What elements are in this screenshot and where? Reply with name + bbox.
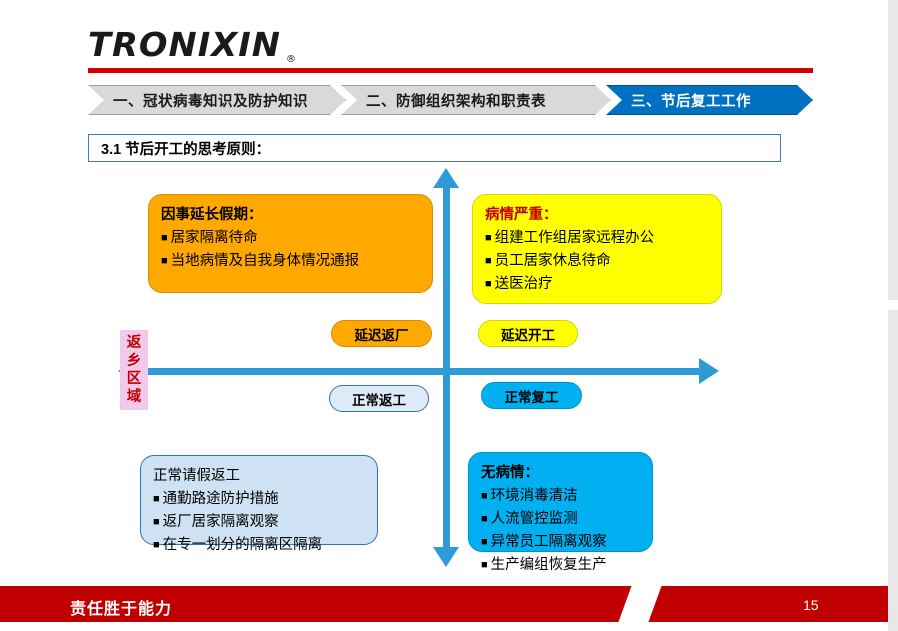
quadrant-bottom-left-bullet-2: 返厂居家隔离观察 [153, 511, 365, 534]
quadrant-top-left-bullet-2: 当地病情及自我身体情况通报 [161, 250, 420, 273]
pill-delayed-return-to-factory: 延迟返厂 [331, 320, 432, 347]
quadrant-bottom-left-bullet-3: 在专一划分的隔离区隔离 [153, 534, 365, 557]
registered-trademark-icon: ® [286, 54, 296, 65]
axis-arrow-up-icon [433, 168, 459, 188]
quadrant-bottom-left-header: 正常请假返工 [153, 465, 365, 487]
pill-normal-resume-work: 正常复工 [481, 382, 582, 409]
footer-slogan: 责任胜于能力 [70, 595, 172, 619]
axis-arrow-right-icon [699, 358, 719, 384]
quadrant-bottom-right-bullet-4: 生产编组恢复生产 [481, 554, 640, 577]
quadrant-top-left-header: 因事延长假期： [161, 204, 420, 226]
axis-arrow-down-icon [433, 547, 459, 567]
quadrant-top-right-header: 病情严重： [485, 204, 709, 226]
quadrant-top-right-bullet-3: 送医治疗 [485, 273, 709, 296]
quadrant-box-top-left: 因事延长假期： 居家隔离待命 当地病情及自我身体情况通报 [148, 194, 433, 293]
header-rule [88, 68, 813, 73]
quadrant-box-bottom-left: 正常请假返工 通勤路途防护措施 返厂居家隔离观察 在专一划分的隔离区隔离 [140, 455, 378, 545]
brand-logo-text: TRONIXIN [88, 28, 281, 61]
nav-chevron-3-active[interactable]: 三、节后复工工作 [606, 85, 813, 115]
pill-delayed-start-work: 延迟开工 [478, 320, 578, 347]
slide-canvas: TRONIXIN ® 一、冠状病毒知识及防护知识 二、防御组织架构和职责表 三、… [0, 0, 898, 631]
page-number: 15 [803, 597, 819, 613]
quadrant-bottom-left-bullet-1: 通勤路途防护措施 [153, 488, 365, 511]
quadrant-bottom-right-bullet-2: 人流管控监测 [481, 508, 640, 531]
right-edge-bar-bottom [888, 310, 898, 631]
nav-chevron-2[interactable]: 二、防御组织架构和职责表 [341, 85, 611, 115]
quadrant-bottom-right-bullet-3: 异常员工隔离观察 [481, 531, 640, 554]
quadrant-top-right-bullet-1: 组建工作组居家远程办公 [485, 227, 709, 250]
quadrant-top-right-bullet-2: 员工居家休息待命 [485, 250, 709, 273]
quadrant-top-left-bullet-1: 居家隔离待命 [161, 227, 420, 250]
quadrant-box-top-right: 病情严重： 组建工作组居家远程办公 员工居家休息待命 送医治疗 [472, 194, 722, 304]
axis-label-return-region: 返乡区域 [120, 330, 148, 410]
brand-logo: TRONIXIN ® [88, 28, 277, 61]
pill-normal-return-to-work: 正常返工 [329, 385, 429, 412]
right-edge-bar-top [888, 0, 898, 300]
section-nav: 一、冠状病毒知识及防护知识 二、防御组织架构和职责表 三、节后复工工作 [88, 85, 813, 115]
quadrant-box-bottom-right: 无病情： 环境消毒清洁 人流管控监测 异常员工隔离观察 生产编组恢复生产 [468, 452, 653, 552]
nav-chevron-1[interactable]: 一、冠状病毒知识及防护知识 [88, 85, 346, 115]
quadrant-bottom-right-bullet-1: 环境消毒清洁 [481, 485, 640, 508]
horizontal-axis [134, 368, 704, 375]
quadrant-bottom-right-header: 无病情： [481, 462, 640, 484]
section-subtitle: 3.1 节后开工的思考原则： [88, 134, 781, 162]
